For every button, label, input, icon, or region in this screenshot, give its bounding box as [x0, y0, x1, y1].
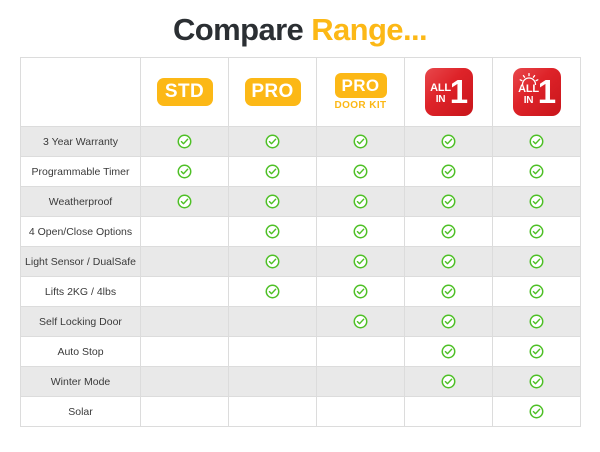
column-header-all-in-1-solar[interactable]: ALL IN 1 — [493, 58, 581, 127]
all-in-one-solar-mark: ALL IN 1 — [515, 72, 559, 112]
feature-cell-pro — [229, 247, 317, 277]
table-body: 3 Year WarrantyProgrammable TimerWeather… — [21, 127, 581, 427]
feature-cell-pro-door-kit — [317, 367, 405, 397]
table-row: Self Locking Door — [21, 307, 581, 337]
check-circle-icon — [441, 134, 456, 149]
table-row: Auto Stop — [21, 337, 581, 367]
feature-cell-std — [141, 337, 229, 367]
check-circle-icon — [529, 374, 544, 389]
table-row: Light Sensor / DualSafe — [21, 247, 581, 277]
check-circle-icon — [353, 254, 368, 269]
feature-cell-pro — [229, 277, 317, 307]
feature-label: Solar — [21, 397, 141, 427]
check-circle-icon — [353, 164, 368, 179]
feature-cell-empty — [353, 402, 368, 417]
check-circle-icon — [441, 194, 456, 209]
check-circle-icon — [529, 224, 544, 239]
check-circle-icon — [353, 134, 368, 149]
check-circle-icon — [529, 314, 544, 329]
feature-cell-empty — [177, 372, 192, 387]
badge-label-pro-door-kit: PRO — [335, 73, 387, 98]
feature-cell-pro — [229, 337, 317, 367]
feature-cell-empty — [177, 342, 192, 357]
feature-cell-pro — [229, 127, 317, 157]
feature-cell-pro-door-kit — [317, 157, 405, 187]
check-circle-icon — [353, 224, 368, 239]
feature-cell-std — [141, 187, 229, 217]
badge-pro-door-kit: PRO DOOR KIT — [317, 58, 404, 126]
column-header-all-in-1[interactable]: ALL IN 1 — [405, 58, 493, 127]
check-circle-icon — [441, 314, 456, 329]
feature-cell-pro-door-kit — [317, 397, 405, 427]
feature-cell-all-in-1-solar — [493, 337, 581, 367]
feature-cell-all-in-1 — [405, 127, 493, 157]
check-circle-icon — [265, 164, 280, 179]
feature-cell-pro — [229, 187, 317, 217]
feature-label: 3 Year Warranty — [21, 127, 141, 157]
feature-cell-all-in-1 — [405, 367, 493, 397]
check-circle-icon — [441, 374, 456, 389]
column-header-std[interactable]: STD — [141, 58, 229, 127]
check-circle-icon — [177, 194, 192, 209]
check-circle-icon — [529, 284, 544, 299]
feature-cell-empty — [265, 342, 280, 357]
feature-cell-all-in-1 — [405, 307, 493, 337]
page-title-accent: Range... — [311, 12, 427, 47]
feature-cell-all-in-1 — [405, 217, 493, 247]
feature-cell-empty — [265, 312, 280, 327]
feature-cell-all-in-1 — [405, 337, 493, 367]
feature-cell-empty — [177, 252, 192, 267]
badge-numeral-one: 1 — [450, 75, 469, 108]
check-circle-icon — [441, 344, 456, 359]
table-row: Lifts 2KG / 4lbs — [21, 277, 581, 307]
feature-cell-pro — [229, 367, 317, 397]
table-header-row: STD PRO PRO DOOR KIT — [21, 58, 581, 127]
feature-cell-std — [141, 157, 229, 187]
feature-cell-pro-door-kit — [317, 337, 405, 367]
feature-cell-std — [141, 307, 229, 337]
table-row: Weatherproof — [21, 187, 581, 217]
feature-label: 4 Open/Close Options — [21, 217, 141, 247]
comparison-table: STD PRO PRO DOOR KIT — [20, 57, 581, 427]
feature-cell-empty — [265, 402, 280, 417]
feature-cell-pro — [229, 157, 317, 187]
feature-cell-std — [141, 217, 229, 247]
check-circle-icon — [265, 194, 280, 209]
check-circle-icon — [529, 404, 544, 419]
feature-cell-all-in-1-solar — [493, 367, 581, 397]
feature-cell-all-in-1 — [405, 157, 493, 187]
check-circle-icon — [177, 164, 192, 179]
feature-label: Auto Stop — [21, 337, 141, 367]
feature-cell-all-in-1-solar — [493, 307, 581, 337]
compare-range-page: Compare Range... STD PRO — [0, 0, 600, 452]
check-circle-icon — [441, 164, 456, 179]
table-header: STD PRO PRO DOOR KIT — [21, 58, 581, 127]
feature-cell-empty — [441, 402, 456, 417]
feature-cell-pro-door-kit — [317, 217, 405, 247]
page-title-primary: Compare — [173, 12, 311, 47]
feature-label: Programmable Timer — [21, 157, 141, 187]
feature-cell-empty — [177, 222, 192, 237]
feature-cell-empty — [353, 372, 368, 387]
feature-cell-std — [141, 277, 229, 307]
check-circle-icon — [441, 284, 456, 299]
badge-label-pro: PRO — [245, 78, 301, 106]
comparison-table-wrapper: STD PRO PRO DOOR KIT — [20, 57, 580, 427]
feature-cell-empty — [353, 342, 368, 357]
feature-column-header — [21, 58, 141, 127]
check-circle-icon — [529, 254, 544, 269]
check-circle-icon — [265, 134, 280, 149]
feature-cell-all-in-1 — [405, 187, 493, 217]
feature-cell-std — [141, 367, 229, 397]
check-circle-icon — [265, 254, 280, 269]
all-in-one-mark: ALL IN 1 — [427, 72, 471, 112]
badge-all-in-1: ALL IN 1 — [405, 58, 492, 126]
badge-label-std: STD — [157, 78, 213, 106]
feature-cell-empty — [265, 372, 280, 387]
feature-cell-empty — [177, 312, 192, 327]
feature-label: Winter Mode — [21, 367, 141, 397]
feature-cell-pro-door-kit — [317, 307, 405, 337]
feature-cell-pro — [229, 397, 317, 427]
table-row: Solar — [21, 397, 581, 427]
check-circle-icon — [353, 194, 368, 209]
feature-cell-all-in-1-solar — [493, 127, 581, 157]
feature-cell-all-in-1-solar — [493, 247, 581, 277]
badge-red-all-in-1-solar: ALL IN 1 — [513, 68, 561, 116]
check-circle-icon — [265, 284, 280, 299]
feature-label: Light Sensor / DualSafe — [21, 247, 141, 277]
badge-all-in-1-solar: ALL IN 1 — [493, 58, 580, 126]
feature-cell-all-in-1 — [405, 397, 493, 427]
column-header-pro[interactable]: PRO — [229, 58, 317, 127]
feature-cell-empty — [177, 282, 192, 297]
feature-cell-all-in-1 — [405, 247, 493, 277]
feature-cell-all-in-1-solar — [493, 397, 581, 427]
table-row: Programmable Timer — [21, 157, 581, 187]
feature-cell-std — [141, 397, 229, 427]
feature-cell-pro — [229, 217, 317, 247]
feature-label: Lifts 2KG / 4lbs — [21, 277, 141, 307]
feature-cell-pro — [229, 307, 317, 337]
check-circle-icon — [441, 254, 456, 269]
feature-cell-empty — [177, 402, 192, 417]
page-title: Compare Range... — [0, 0, 600, 50]
feature-cell-pro-door-kit — [317, 127, 405, 157]
feature-cell-all-in-1 — [405, 277, 493, 307]
check-circle-icon — [529, 164, 544, 179]
feature-cell-pro-door-kit — [317, 187, 405, 217]
feature-cell-std — [141, 247, 229, 277]
feature-cell-all-in-1-solar — [493, 217, 581, 247]
table-row: Winter Mode — [21, 367, 581, 397]
feature-cell-pro-door-kit — [317, 247, 405, 277]
check-circle-icon — [529, 344, 544, 359]
check-circle-icon — [177, 134, 192, 149]
badge-red-all-in-1: ALL IN 1 — [425, 68, 473, 116]
check-circle-icon — [529, 194, 544, 209]
check-circle-icon — [353, 284, 368, 299]
feature-cell-all-in-1-solar — [493, 157, 581, 187]
check-circle-icon — [265, 224, 280, 239]
badge-numeral-one-solar: 1 — [538, 75, 557, 108]
feature-label: Self Locking Door — [21, 307, 141, 337]
feature-cell-all-in-1-solar — [493, 277, 581, 307]
table-row: 3 Year Warranty — [21, 127, 581, 157]
feature-cell-std — [141, 127, 229, 157]
feature-cell-pro-door-kit — [317, 277, 405, 307]
feature-cell-all-in-1-solar — [493, 187, 581, 217]
table-row: 4 Open/Close Options — [21, 217, 581, 247]
column-header-pro-door-kit[interactable]: PRO DOOR KIT — [317, 58, 405, 127]
badge-subcaption-door-kit: DOOR KIT — [334, 100, 386, 111]
check-circle-icon — [529, 134, 544, 149]
check-circle-icon — [441, 224, 456, 239]
feature-label: Weatherproof — [21, 187, 141, 217]
check-circle-icon — [353, 314, 368, 329]
badge-pro: PRO — [229, 58, 316, 126]
badge-std: STD — [141, 58, 228, 126]
